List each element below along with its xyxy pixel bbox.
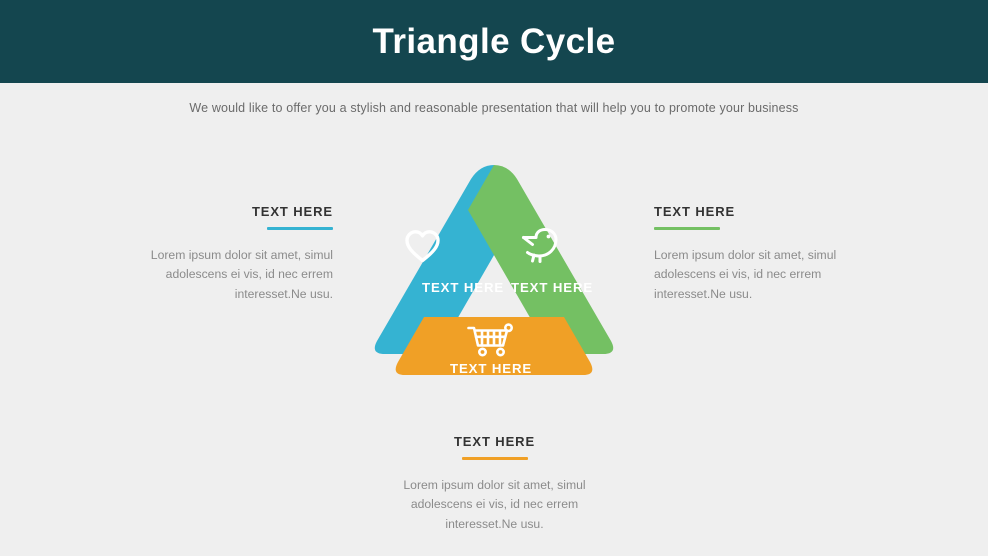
diagram-segment-bottom[interactable]: TEXT HERE <box>396 317 593 376</box>
triangle-cycle-diagram: TEXT HERE TEXT HERE <box>368 162 620 412</box>
accent-rule-bottom <box>462 457 528 460</box>
block-heading-bottom: TEXT HERE <box>387 435 602 448</box>
text-block-bottom: TEXT HERE Lorem ipsum dolor sit amet, si… <box>387 435 602 534</box>
text-block-left: TEXT HERE Lorem ipsum dolor sit amet, si… <box>118 205 333 304</box>
block-body-right: Lorem ipsum dolor sit amet, simul adoles… <box>654 246 869 305</box>
text-block-right: TEXT HERE Lorem ipsum dolor sit amet, si… <box>654 205 869 304</box>
block-body-bottom: Lorem ipsum dolor sit amet, simul adoles… <box>387 476 602 535</box>
block-heading-right: TEXT HERE <box>654 205 869 218</box>
segment-label-right: TEXT HERE <box>511 280 593 295</box>
slide-stage: TEXT HERE TEXT HERE <box>0 83 988 556</box>
block-body-left: Lorem ipsum dolor sit amet, simul adoles… <box>118 246 333 305</box>
segment-label-bottom: TEXT HERE <box>450 361 532 376</box>
accent-rule-left <box>267 227 333 230</box>
block-heading-left: TEXT HERE <box>118 205 333 218</box>
accent-rule-right <box>654 227 720 230</box>
page-header: Triangle Cycle <box>0 0 988 83</box>
segment-label-left: TEXT HERE <box>422 280 504 295</box>
page-title: Triangle Cycle <box>373 24 616 59</box>
